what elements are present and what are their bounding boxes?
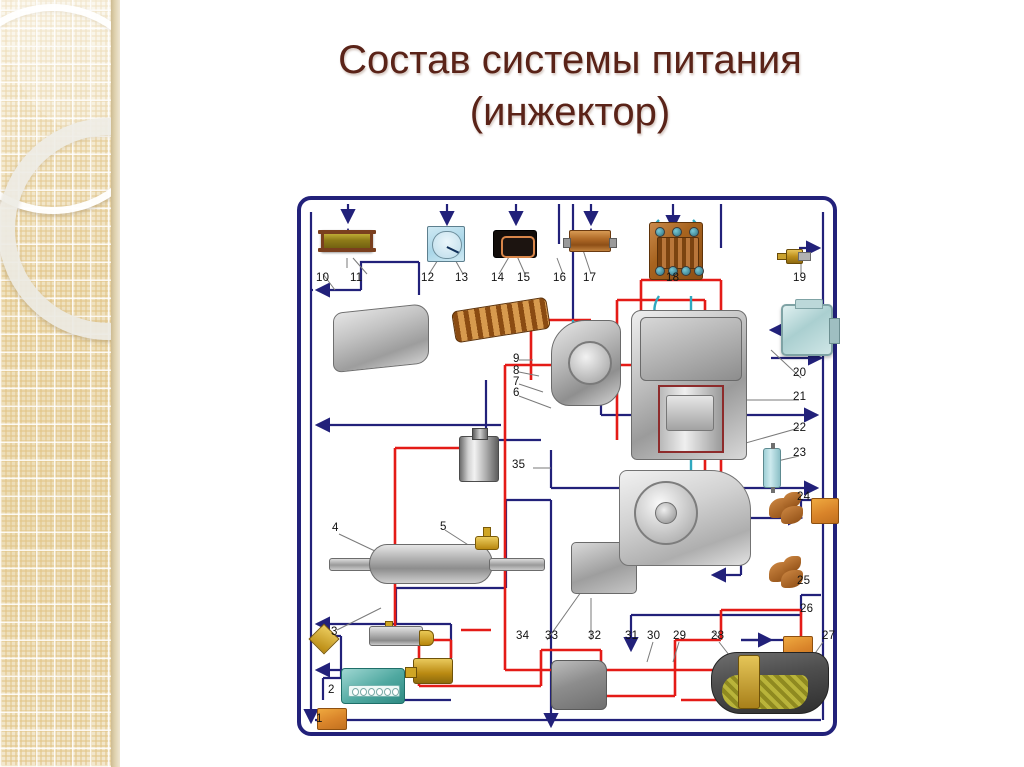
decorative-sidebar bbox=[0, 0, 120, 767]
fuel-level bbox=[722, 675, 808, 709]
exhaust-pipe-right bbox=[489, 558, 545, 571]
part-check-engine-lamp bbox=[493, 230, 537, 258]
part-fuel-tank bbox=[711, 652, 829, 714]
callout-30: 30 bbox=[647, 630, 660, 642]
callout-8: 8 bbox=[513, 365, 520, 377]
callout-4: 4 bbox=[332, 522, 339, 534]
module-dot bbox=[384, 688, 391, 696]
engine-outline-icon bbox=[501, 236, 535, 258]
part-starter-motor bbox=[369, 626, 423, 646]
callout-33: 33 bbox=[545, 630, 558, 642]
callout-15: 15 bbox=[517, 272, 530, 284]
part-fuel-filter-inline bbox=[763, 448, 781, 488]
slide-root: Состав системы питания (инжектор) bbox=[0, 0, 1024, 767]
part-crankshaft-block bbox=[619, 470, 751, 566]
coil-pin bbox=[681, 266, 691, 276]
module-dot bbox=[360, 688, 367, 696]
fuel-system-diagram-frame bbox=[297, 196, 837, 736]
module-display bbox=[348, 685, 400, 697]
callout-34: 34 bbox=[516, 630, 529, 642]
callout-16: 16 bbox=[553, 272, 566, 284]
part-oxygen-sensor bbox=[473, 530, 499, 552]
page-title: Состав системы питания (инжектор) bbox=[160, 34, 980, 138]
callout-26: 26 bbox=[800, 603, 813, 615]
part-temperature-sensor bbox=[777, 248, 811, 263]
sensor-body bbox=[475, 536, 499, 550]
callout-1: 1 bbox=[316, 713, 323, 725]
callout-35: 35 bbox=[512, 459, 525, 471]
ecu-top-tab bbox=[795, 299, 823, 309]
part-fuse-relay-block bbox=[321, 230, 373, 252]
module-dot bbox=[352, 688, 359, 696]
starter-nose bbox=[419, 630, 434, 646]
callout-17: 17 bbox=[583, 272, 596, 284]
part-air-filter-housing bbox=[333, 303, 429, 373]
throttle-bore bbox=[568, 341, 612, 385]
callout-19: 19 bbox=[793, 272, 806, 284]
callout-25: 25 bbox=[797, 575, 810, 587]
callout-22: 22 bbox=[793, 422, 806, 434]
callout-14: 14 bbox=[491, 272, 504, 284]
coil-pin bbox=[655, 227, 665, 237]
callout-13: 13 bbox=[455, 272, 468, 284]
callout-6: 6 bbox=[513, 387, 520, 399]
callout-12: 12 bbox=[421, 272, 434, 284]
callout-20: 20 bbox=[793, 367, 806, 379]
ecu-connector bbox=[829, 318, 840, 344]
callout-2: 2 bbox=[328, 684, 335, 696]
part-expansion-reservoir bbox=[551, 660, 607, 710]
module-dot bbox=[392, 688, 399, 696]
sidebar-edge-strip bbox=[111, 0, 120, 767]
part-control-module bbox=[341, 668, 405, 704]
coil-pin bbox=[672, 227, 682, 237]
gauge-needle bbox=[447, 246, 459, 253]
cylinder-head bbox=[640, 317, 742, 381]
crank-pulley bbox=[634, 481, 698, 545]
part-fuel-filter-brass bbox=[413, 658, 453, 684]
module-dot bbox=[368, 688, 375, 696]
exhaust-pipe-left bbox=[329, 558, 373, 571]
callout-3: 3 bbox=[331, 626, 338, 638]
module-dot bbox=[376, 688, 383, 696]
part-throttle-body bbox=[551, 320, 621, 406]
callout-28: 28 bbox=[711, 630, 724, 642]
part-copper-relay bbox=[569, 230, 611, 252]
part-engine-control-unit bbox=[781, 304, 833, 356]
part-charcoal-canister bbox=[459, 436, 499, 482]
part-fuel-pump-module bbox=[738, 655, 760, 709]
callout-7: 7 bbox=[513, 376, 520, 388]
coil-pin bbox=[689, 227, 699, 237]
callout-21: 21 bbox=[793, 391, 806, 403]
part-tachometer-gauge bbox=[427, 226, 465, 262]
sidebar-highlight-wash bbox=[0, 0, 120, 270]
part-engine-cutaway bbox=[631, 310, 747, 460]
coil-core bbox=[657, 237, 699, 269]
gauge-dial bbox=[432, 231, 462, 259]
callout-31: 31 bbox=[625, 630, 638, 642]
callout-29: 29 bbox=[673, 630, 686, 642]
callout-27: 27 bbox=[822, 630, 835, 642]
callout-24: 24 bbox=[797, 491, 810, 503]
callout-5: 5 bbox=[440, 521, 447, 533]
canister-cap bbox=[472, 428, 488, 440]
coil-pin bbox=[694, 266, 704, 276]
callout-32: 32 bbox=[588, 630, 601, 642]
piston bbox=[666, 395, 714, 431]
callout-10: 10 bbox=[316, 272, 329, 284]
fan-blade bbox=[781, 506, 803, 524]
sensor-tip-right bbox=[798, 252, 811, 261]
part-fan-relay-upper bbox=[811, 498, 839, 524]
callout-23: 23 bbox=[793, 447, 806, 459]
callout-11: 11 bbox=[350, 272, 362, 284]
coil-pin bbox=[655, 266, 665, 276]
callout-18: 18 bbox=[666, 272, 679, 284]
callout-9: 9 bbox=[513, 353, 520, 365]
